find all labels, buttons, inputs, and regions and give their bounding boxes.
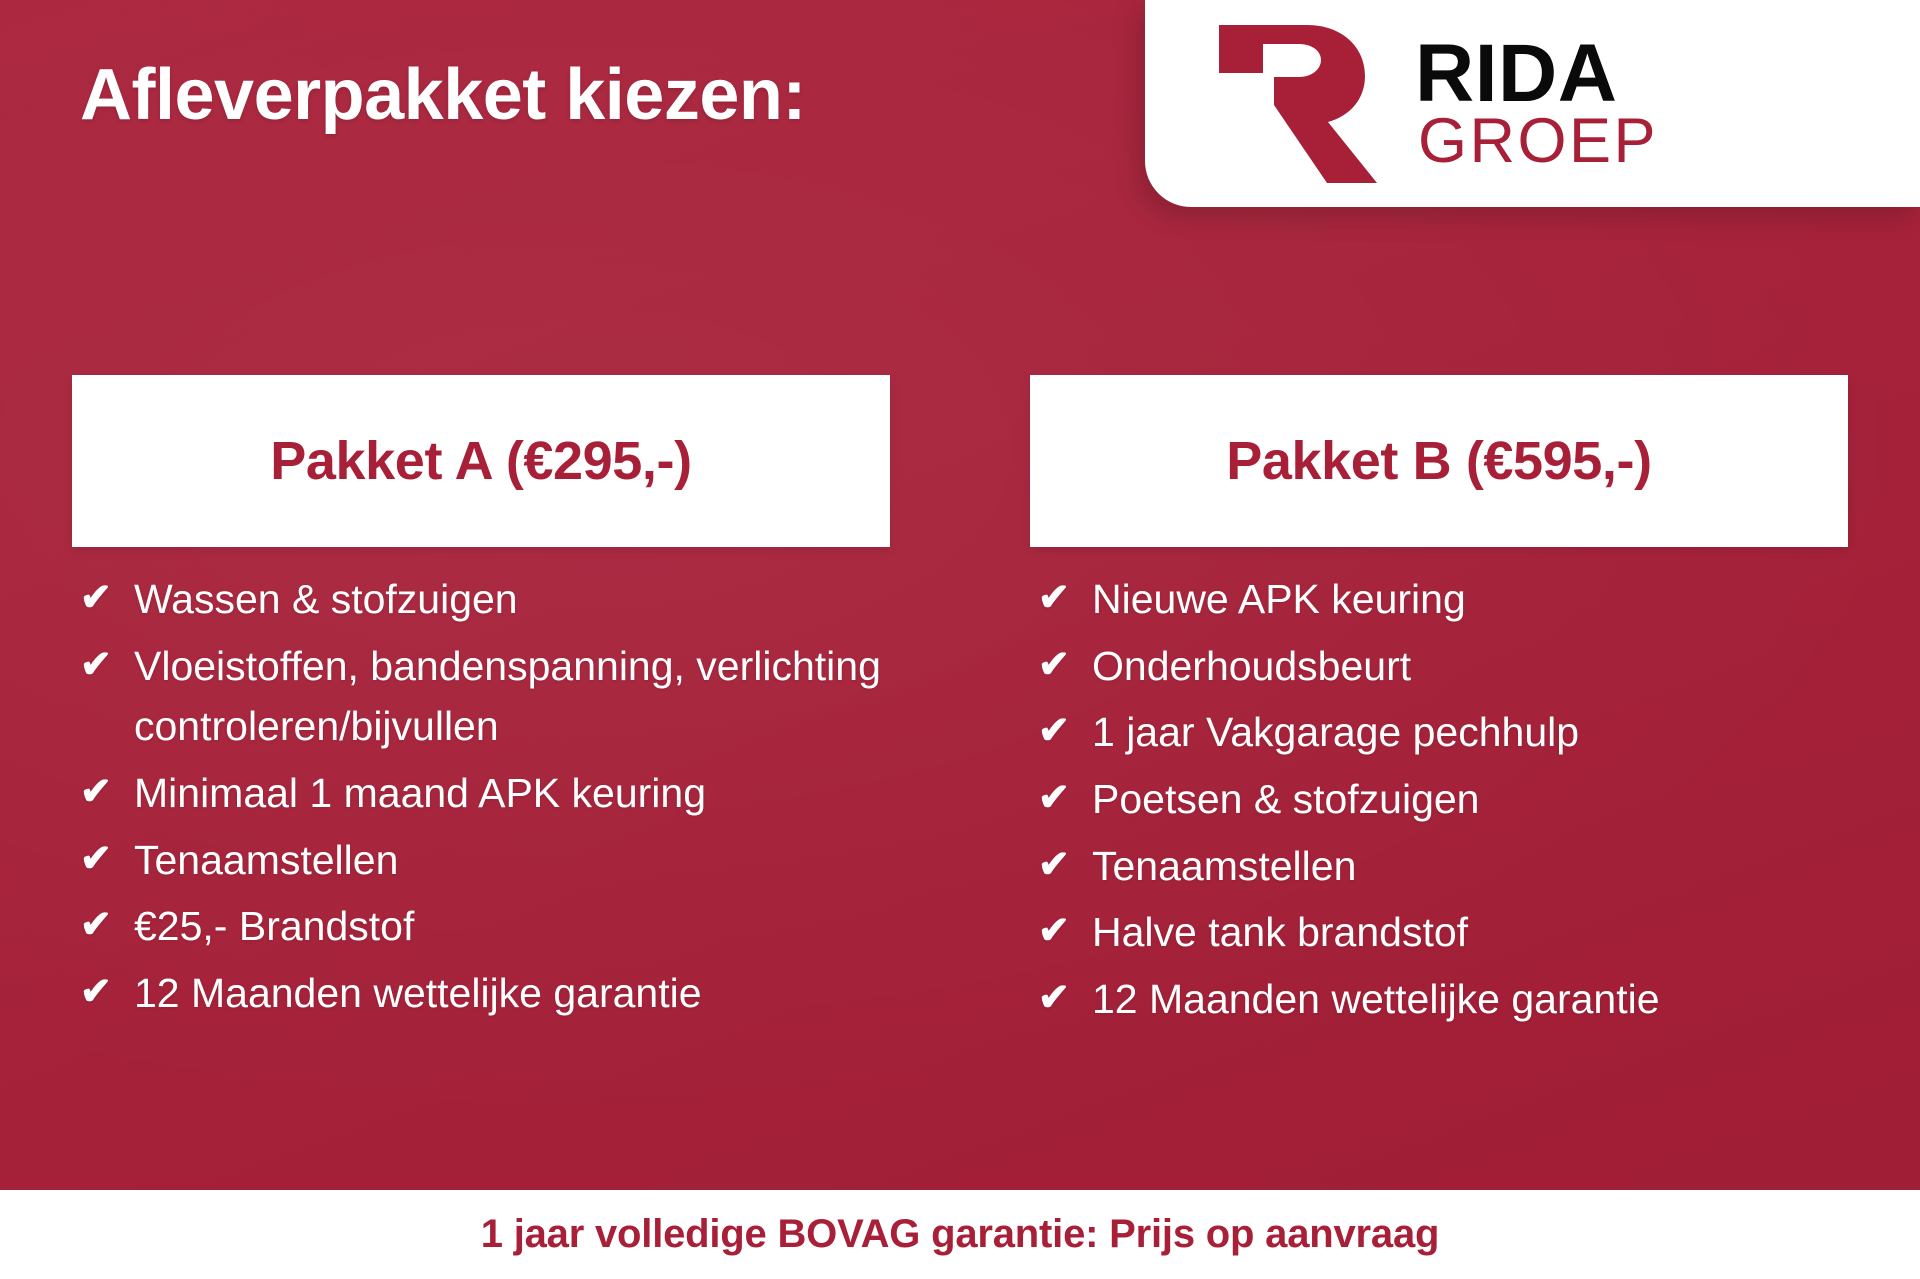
rida-groep-logo: RIDA GROEP <box>1145 0 1920 207</box>
list-item: ✔ Halve tank brandstof <box>1038 902 1848 963</box>
list-item: ✔ Poetsen & stofzuigen <box>1038 769 1848 830</box>
check-icon: ✔ <box>1038 836 1092 895</box>
check-icon: ✔ <box>80 963 134 1022</box>
feature-label: 12 Maanden wettelijke garantie <box>1092 969 1848 1030</box>
rida-r-mark-icon <box>1211 21 1381 187</box>
feature-label: Tenaamstellen <box>1092 836 1848 897</box>
feature-label: Poetsen & stofzuigen <box>1092 769 1848 830</box>
list-item: ✔ 12 Maanden wettelijke garantie <box>80 963 890 1024</box>
list-item: ✔ Tenaamstellen <box>80 830 890 891</box>
check-icon: ✔ <box>1038 902 1092 961</box>
list-item: ✔ Nieuwe APK keuring <box>1038 569 1848 630</box>
check-icon: ✔ <box>1038 569 1092 628</box>
feature-label: Nieuwe APK keuring <box>1092 569 1848 630</box>
check-icon: ✔ <box>80 896 134 955</box>
check-icon: ✔ <box>80 636 134 695</box>
package-columns: Pakket A (€295,-) ✔ Wassen & stofzuigen … <box>0 375 1920 1036</box>
list-item: ✔ Onderhoudsbeurt <box>1038 636 1848 697</box>
check-icon: ✔ <box>1038 636 1092 695</box>
package-card-pakket-b: Pakket B (€595,-) ✔ Nieuwe APK keuring ✔… <box>1030 375 1848 1036</box>
footer-banner: 1 jaar volledige BOVAG garantie: Prijs o… <box>0 1190 1920 1279</box>
feature-label: Halve tank brandstof <box>1092 902 1848 963</box>
feature-label: Vloeistoffen, bandenspanning, verlichtin… <box>134 636 890 757</box>
feature-label: €25,- Brandstof <box>134 896 890 957</box>
logo-wordmark: RIDA GROEP <box>1415 36 1658 171</box>
feature-label: Minimaal 1 maand APK keuring <box>134 763 890 824</box>
feature-label: 1 jaar Vakgarage pechhulp <box>1092 702 1848 763</box>
logo-name-secondary: GROEP <box>1418 113 1658 171</box>
feature-list-pakket-b: ✔ Nieuwe APK keuring ✔ Onderhoudsbeurt ✔… <box>1030 547 1848 1030</box>
package-header-pakket-b[interactable]: Pakket B (€595,-) <box>1030 375 1848 547</box>
check-icon: ✔ <box>1038 702 1092 761</box>
package-card-pakket-a: Pakket A (€295,-) ✔ Wassen & stofzuigen … <box>72 375 890 1036</box>
footer-note: 1 jaar volledige BOVAG garantie: Prijs o… <box>481 1212 1439 1257</box>
check-icon: ✔ <box>80 763 134 822</box>
package-header-pakket-a[interactable]: Pakket A (€295,-) <box>72 375 890 547</box>
feature-list-pakket-a: ✔ Wassen & stofzuigen ✔ Vloeistoffen, ba… <box>72 547 890 1024</box>
feature-label: Onderhoudsbeurt <box>1092 636 1848 697</box>
list-item: ✔ 1 jaar Vakgarage pechhulp <box>1038 702 1848 763</box>
afleverpakket-poster: Afleverpakket kiezen: RIDA GROEP Pakket … <box>0 0 1920 1279</box>
feature-label: 12 Maanden wettelijke garantie <box>134 963 890 1024</box>
check-icon: ✔ <box>80 569 134 628</box>
poster-header: Afleverpakket kiezen: RIDA GROEP <box>0 0 1920 250</box>
logo-name-primary: RIDA <box>1415 36 1658 111</box>
list-item: ✔ Wassen & stofzuigen <box>80 569 890 630</box>
list-item: ✔ Vloeistoffen, bandenspanning, verlicht… <box>80 636 890 757</box>
list-item: ✔ Tenaamstellen <box>1038 836 1848 897</box>
feature-label: Wassen & stofzuigen <box>134 569 890 630</box>
check-icon: ✔ <box>80 830 134 889</box>
check-icon: ✔ <box>1038 969 1092 1028</box>
list-item: ✔ Minimaal 1 maand APK keuring <box>80 763 890 824</box>
page-title: Afleverpakket kiezen: <box>80 58 806 134</box>
check-icon: ✔ <box>1038 769 1092 828</box>
list-item: ✔ €25,- Brandstof <box>80 896 890 957</box>
package-title-pakket-b: Pakket B (€595,-) <box>1226 430 1651 492</box>
feature-label: Tenaamstellen <box>134 830 890 891</box>
package-title-pakket-a: Pakket A (€295,-) <box>270 430 691 492</box>
list-item: ✔ 12 Maanden wettelijke garantie <box>1038 969 1848 1030</box>
